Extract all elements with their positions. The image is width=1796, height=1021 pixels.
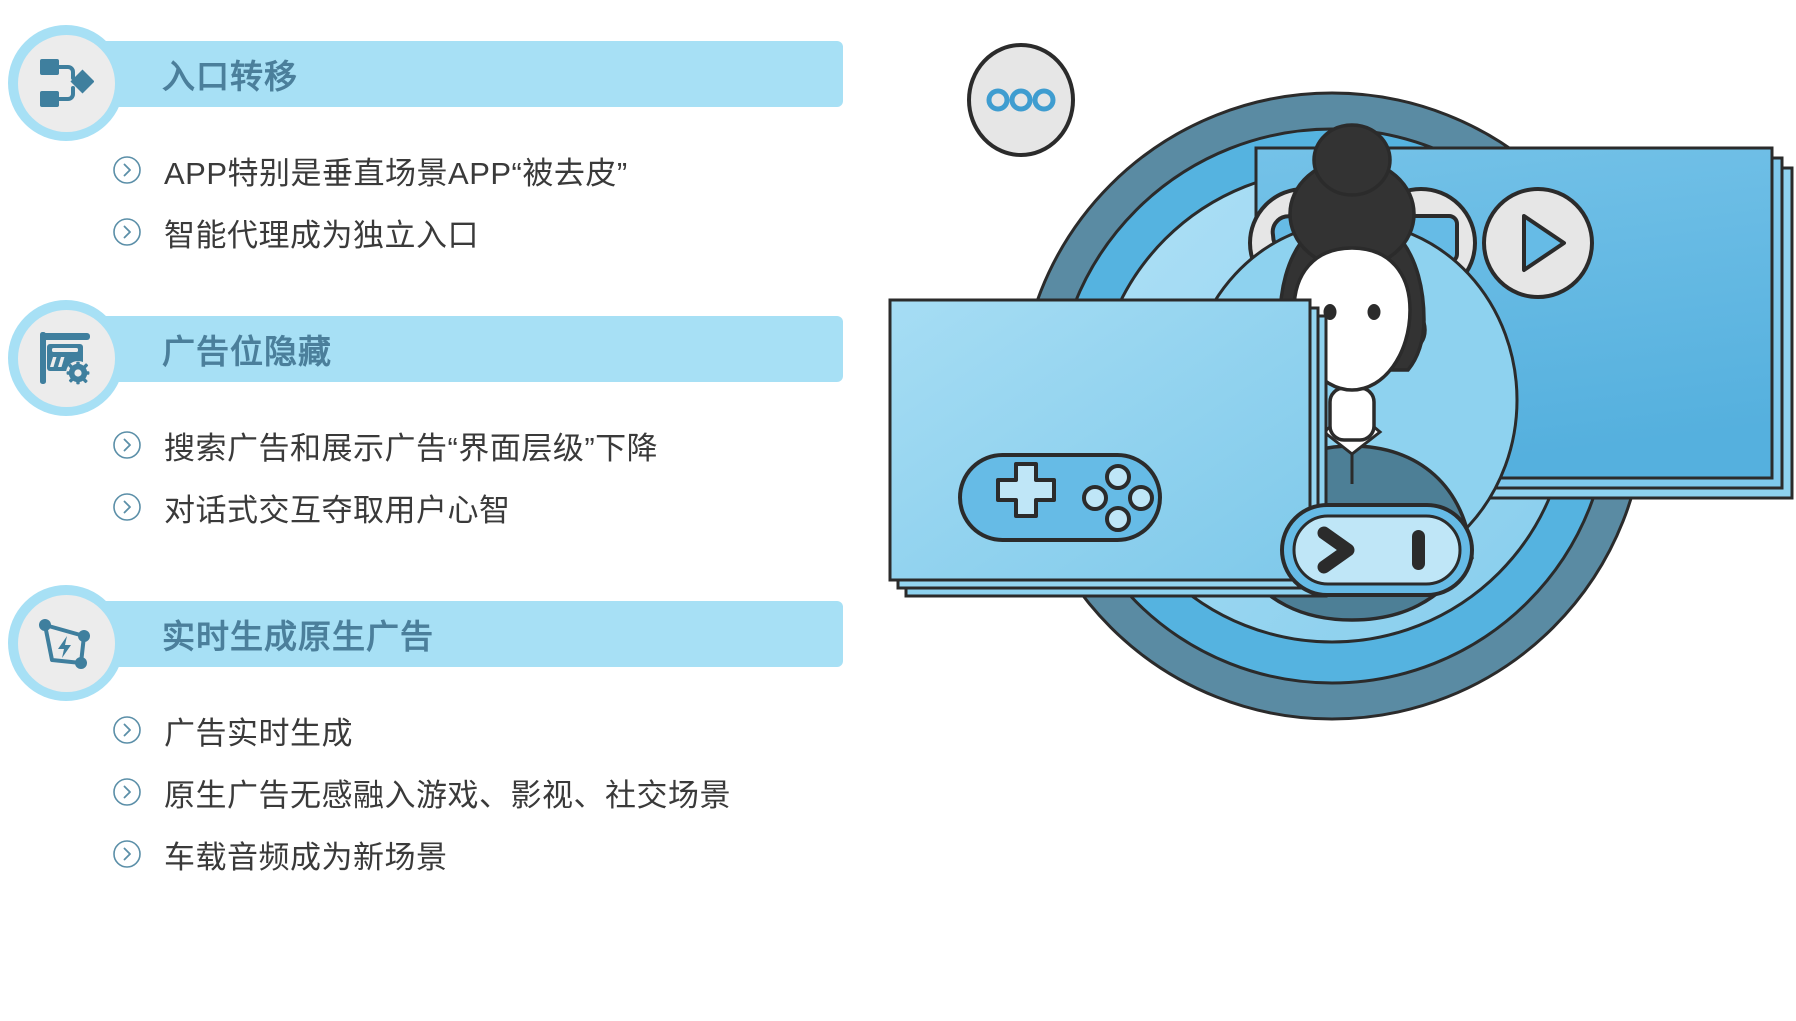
chevron-right-circle-icon bbox=[112, 715, 142, 745]
ai-media-persona-illustration bbox=[880, 0, 1796, 1021]
section-icon-badge bbox=[8, 25, 124, 141]
list-item: APP特别是垂直场景APP“被去皮” bbox=[0, 139, 880, 201]
section-entry-transfer: 入口转移 APP特别是垂直场景APP“被去皮” bbox=[0, 25, 880, 263]
billboard-gear-icon bbox=[37, 330, 95, 386]
list-item: 对话式交互夺取用户心智 bbox=[0, 476, 880, 538]
list-item: 车载音频成为新场景 bbox=[0, 823, 880, 885]
section-title: 广告位隐藏 bbox=[162, 316, 332, 382]
game-controller-panel bbox=[890, 300, 1326, 596]
section-icon-circle bbox=[18, 310, 115, 407]
list-item-label: 原生广告无感融入游戏、影视、社交场景 bbox=[164, 770, 731, 815]
section-title: 实时生成原生广告 bbox=[162, 601, 434, 667]
list-item: 智能代理成为独立入口 bbox=[0, 201, 880, 263]
bullet-list: 广告实时生成 原生广告无感融入游戏、影视、社交场景 bbox=[0, 699, 880, 885]
section-icon-circle bbox=[18, 595, 115, 692]
section-ad-slot-hidden: 广告位隐藏 搜索广告和展示广告“界面层级”下降 bbox=[0, 300, 880, 538]
list-item: 广告实时生成 bbox=[0, 699, 880, 761]
chevron-right-circle-icon bbox=[112, 492, 142, 522]
list-item-label: 广告实时生成 bbox=[164, 708, 353, 753]
chevron-right-circle-icon bbox=[112, 777, 142, 807]
bullet-list: 搜索广告和展示广告“界面层级”下降 对话式交互夺取用户心智 bbox=[0, 414, 880, 538]
section-title: 入口转移 bbox=[162, 41, 298, 107]
list-item-label: 车载音频成为新场景 bbox=[164, 832, 448, 877]
section-icon-circle bbox=[18, 35, 115, 132]
list-item: 原生广告无感融入游戏、影视、社交场景 bbox=[0, 761, 880, 823]
polygon-bolt-icon bbox=[37, 616, 95, 670]
section-icon-badge bbox=[8, 585, 124, 701]
ellipsis-bubble bbox=[969, 45, 1073, 155]
flow-node-icon bbox=[38, 57, 94, 109]
terminal-prompt-pill bbox=[1282, 505, 1472, 595]
section-realtime-native-ads: 实时生成原生广告 广告实时生成 原生广告无 bbox=[0, 585, 880, 885]
section-header: 实时生成原生广告 bbox=[0, 585, 880, 681]
chevron-right-circle-icon bbox=[112, 217, 142, 247]
list-item-label: 智能代理成为独立入口 bbox=[164, 210, 479, 255]
list-item-label: 搜索广告和展示广告“界面层级”下降 bbox=[164, 423, 658, 468]
section-header: 广告位隐藏 bbox=[0, 300, 880, 396]
list-item-label: APP特别是垂直场景APP“被去皮” bbox=[164, 148, 628, 193]
list-item-label: 对话式交互夺取用户心智 bbox=[164, 485, 511, 530]
bullet-list: APP特别是垂直场景APP“被去皮” 智能代理成为独立入口 bbox=[0, 139, 880, 263]
play-reaction-icon bbox=[1484, 189, 1592, 297]
content-column: 入口转移 APP特别是垂直场景APP“被去皮” bbox=[0, 0, 880, 1021]
chevron-right-circle-icon bbox=[112, 839, 142, 869]
chevron-right-circle-icon bbox=[112, 430, 142, 460]
section-icon-badge bbox=[8, 300, 124, 416]
section-header: 入口转移 bbox=[0, 25, 880, 121]
chevron-right-circle-icon bbox=[112, 155, 142, 185]
list-item: 搜索广告和展示广告“界面层级”下降 bbox=[0, 414, 880, 476]
